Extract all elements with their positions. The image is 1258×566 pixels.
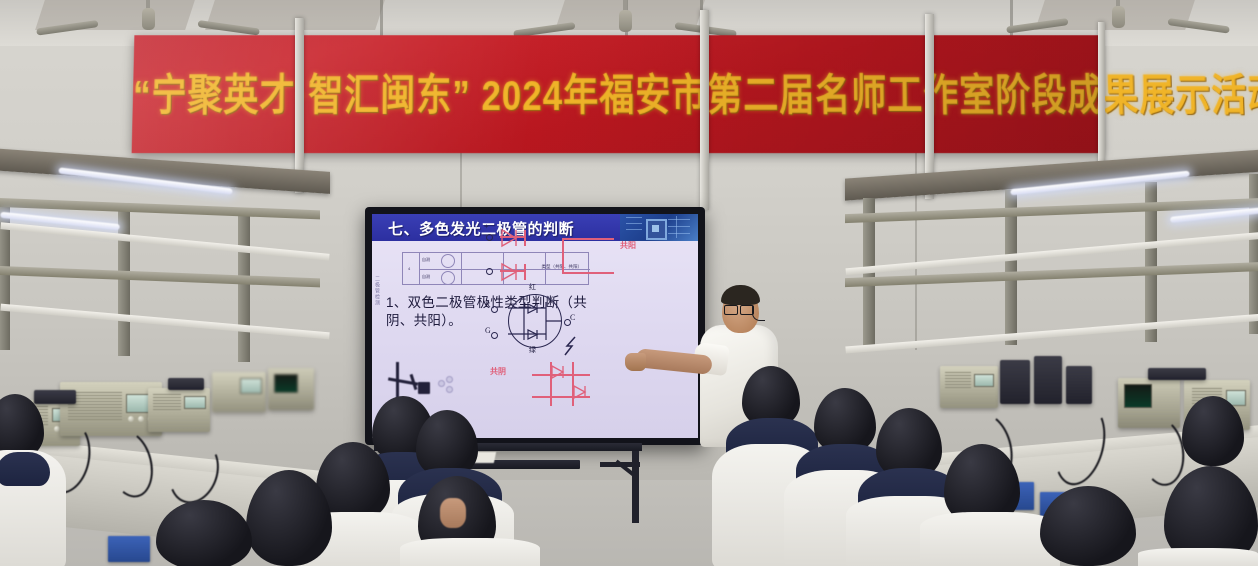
circuit-board-decoration-icon: [620, 214, 698, 241]
annotation-label: 共阳: [620, 240, 636, 251]
student-torso: [1138, 548, 1258, 566]
slide-side-text: 二极管检测: [374, 276, 381, 306]
student-torso: [400, 538, 540, 566]
student-uniform-accent: [0, 452, 50, 486]
lightning-icon: [564, 336, 580, 356]
headset-microphone-icon: [752, 306, 765, 321]
student-face: [440, 498, 466, 528]
event-banner: “宁聚英才·智汇闽东” 2024年福安市第二届名师工作室阶段成果展示活动: [132, 35, 1103, 153]
parts-bin: [108, 536, 150, 562]
teacher-pointing-hand: [625, 353, 646, 371]
ceiling-fan: [1058, 0, 1178, 28]
terminal-label-g: G: [485, 326, 491, 335]
diode-label-red: 红: [529, 282, 536, 292]
terminal-label-r: R: [485, 300, 490, 309]
table-row-label: 4: [408, 266, 410, 271]
circuit-diodes-icon: [508, 294, 562, 348]
support-pole: [700, 10, 709, 210]
function-generator-left: [148, 388, 210, 432]
oscilloscope-left-2: [212, 372, 266, 412]
student-torso: [920, 512, 1060, 566]
monitor-back: [1066, 366, 1092, 404]
banner-text: “宁聚英才·智汇闽东” 2024年福安市第二届名师工作室阶段成果展示活动: [132, 61, 1101, 123]
diode-sketch-icon: [548, 360, 594, 408]
pc-tower: [1034, 356, 1062, 404]
dc-power-supply-right: [940, 366, 998, 408]
oscilloscope-left-3: [268, 368, 314, 410]
instrument-top-box: [1148, 368, 1206, 380]
annotation-label: 共阴: [490, 366, 506, 377]
diode-label-green: 绿: [529, 345, 536, 355]
pc-tower: [1000, 360, 1030, 404]
eyeglasses-icon: [724, 305, 738, 315]
table-cell: 自测: [422, 257, 430, 263]
ceiling-fan: [88, 0, 208, 30]
table-cell: 自测: [422, 274, 430, 280]
display-stand-leg: [632, 445, 639, 523]
slide-title: 七、多色发光二极管的判断: [388, 218, 574, 239]
instrument-top-box: [168, 378, 204, 390]
ceiling-fan: [565, 0, 685, 32]
instrument-top-box: [34, 390, 76, 404]
diode-sketch-icon: [496, 226, 536, 288]
classroom-photo-scene: “宁聚英才·智汇闽东” 2024年福安市第二届名师工作室阶段成果展示活动 七、多…: [0, 0, 1258, 566]
